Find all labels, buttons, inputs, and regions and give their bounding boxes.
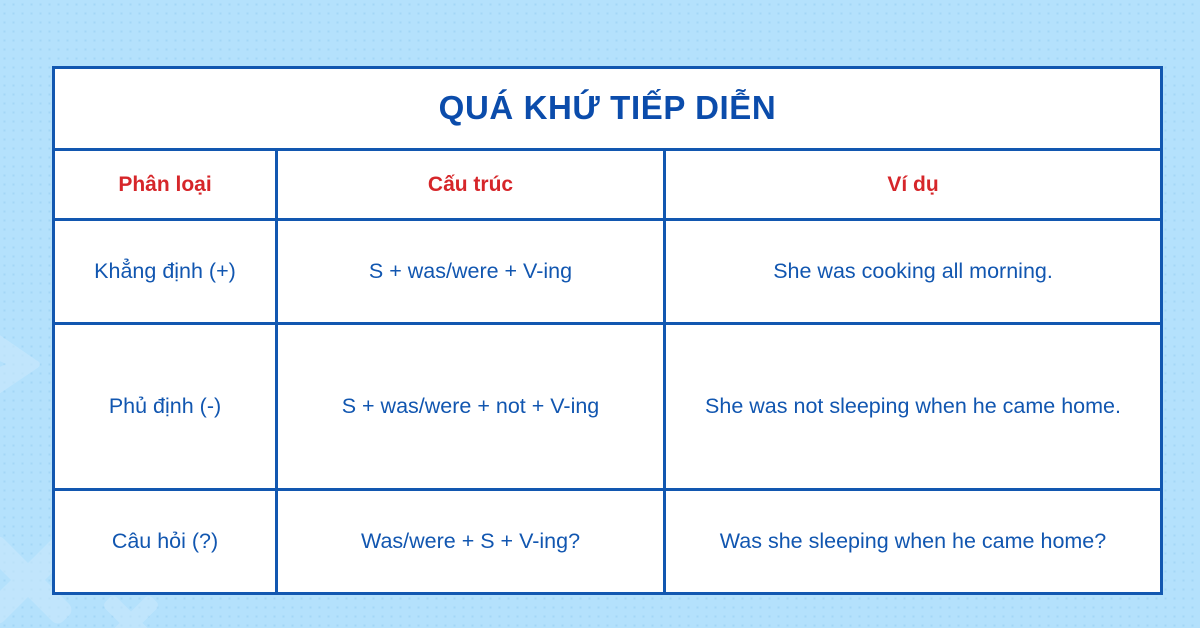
cell-example: She was cooking all morning. — [665, 220, 1162, 324]
table-header-row: Phân loại Cấu trúc Ví dụ — [54, 150, 1162, 220]
column-header-vi-du: Ví dụ — [665, 150, 1162, 220]
cell-structure: S + was/were + V-ing — [277, 220, 665, 324]
grammar-table: QUÁ KHỨ TIẾP DIỄN Phân loại Cấu trúc Ví … — [52, 66, 1163, 595]
grammar-table-card: QUÁ KHỨ TIẾP DIỄN Phân loại Cấu trúc Ví … — [52, 66, 1160, 592]
table-title-cell: QUÁ KHỨ TIẾP DIỄN — [54, 68, 1162, 150]
column-header-label: Ví dụ — [887, 173, 938, 196]
cell-type: Phủ định (-) — [54, 324, 277, 490]
page-title: QUÁ KHỨ TIẾP DIỄN — [439, 89, 777, 126]
cell-example: Was she sleeping when he came home? — [665, 490, 1162, 594]
table-row: Câu hỏi (?) Was/were + S + V-ing? Was sh… — [54, 490, 1162, 594]
cell-type: Khẳng định (+) — [54, 220, 277, 324]
table-title-row: QUÁ KHỨ TIẾP DIỄN — [54, 68, 1162, 150]
column-header-cau-truc: Cấu trúc — [277, 150, 665, 220]
cell-example: She was not sleeping when he came home. — [665, 324, 1162, 490]
cell-structure: S + was/were + not + V-ing — [277, 324, 665, 490]
table-row: Khẳng định (+) S + was/were + V-ing She … — [54, 220, 1162, 324]
cell-type: Câu hỏi (?) — [54, 490, 277, 594]
column-header-label: Cấu trúc — [428, 173, 513, 196]
column-header-phan-loai: Phân loại — [54, 150, 277, 220]
cell-structure: Was/were + S + V-ing? — [277, 490, 665, 594]
table-row: Phủ định (-) S + was/were + not + V-ing … — [54, 324, 1162, 490]
column-header-label: Phân loại — [118, 173, 211, 196]
